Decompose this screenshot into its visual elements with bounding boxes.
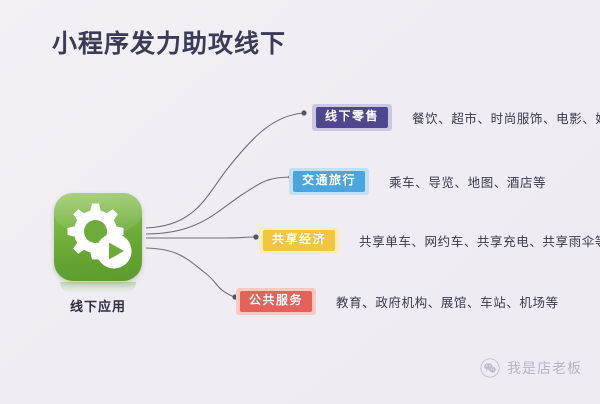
branch-item[interactable]: 线下零售 餐饮、超市、时尚服饰、电影、娱乐等 xyxy=(312,104,600,131)
watermark-text: 我是店老板 xyxy=(507,358,582,378)
branch-description: 教育、政府机构、展馆、车站、机场等 xyxy=(336,292,559,311)
gear-play-app-icon[interactable] xyxy=(54,193,142,281)
branch-item[interactable]: 共享经济 共享单车、网约车、共享充电、共享雨伞等 xyxy=(259,227,600,254)
infographic-canvas: 小程序发力助攻线下 xyxy=(0,0,600,404)
branch-description: 共享单车、网约车、共享充电、共享雨伞等 xyxy=(359,231,600,250)
badge-halo: 线下零售 xyxy=(312,104,392,131)
branch-badge[interactable]: 共享经济 xyxy=(263,230,335,251)
branch-item[interactable]: 公共服务 教育、政府机构、展馆、车站、机场等 xyxy=(236,288,559,315)
page-title: 小程序发力助攻线下 xyxy=(52,24,286,60)
connector-dot-2 xyxy=(253,234,258,239)
connector-line-0 xyxy=(146,113,303,228)
branch-description: 餐饮、超市、时尚服饰、电影、娱乐等 xyxy=(412,108,600,127)
branch-badge[interactable]: 公共服务 xyxy=(240,291,312,312)
center-node[interactable]: 线下应用 xyxy=(50,193,146,315)
badge-halo: 公共服务 xyxy=(236,288,316,315)
badge-halo: 交通旅行 xyxy=(289,168,369,195)
icon-reflection xyxy=(60,282,136,293)
branch-badge[interactable]: 线下零售 xyxy=(316,107,388,128)
connector-line-2 xyxy=(146,237,255,238)
connector-dot-0 xyxy=(301,110,306,115)
play-icon[interactable] xyxy=(54,193,142,281)
center-node-label: 线下应用 xyxy=(50,296,146,315)
wechat-icon xyxy=(480,358,500,378)
branch-badge[interactable]: 交通旅行 xyxy=(293,171,365,192)
branch-description: 乘车、导览、地图、酒店等 xyxy=(389,172,546,191)
connector-line-1 xyxy=(146,177,290,234)
branch-item[interactable]: 交通旅行 乘车、导览、地图、酒店等 xyxy=(289,168,546,195)
badge-halo: 共享经济 xyxy=(259,227,339,254)
watermark: 我是店老板 xyxy=(480,358,582,378)
connector-line-3 xyxy=(146,248,234,297)
